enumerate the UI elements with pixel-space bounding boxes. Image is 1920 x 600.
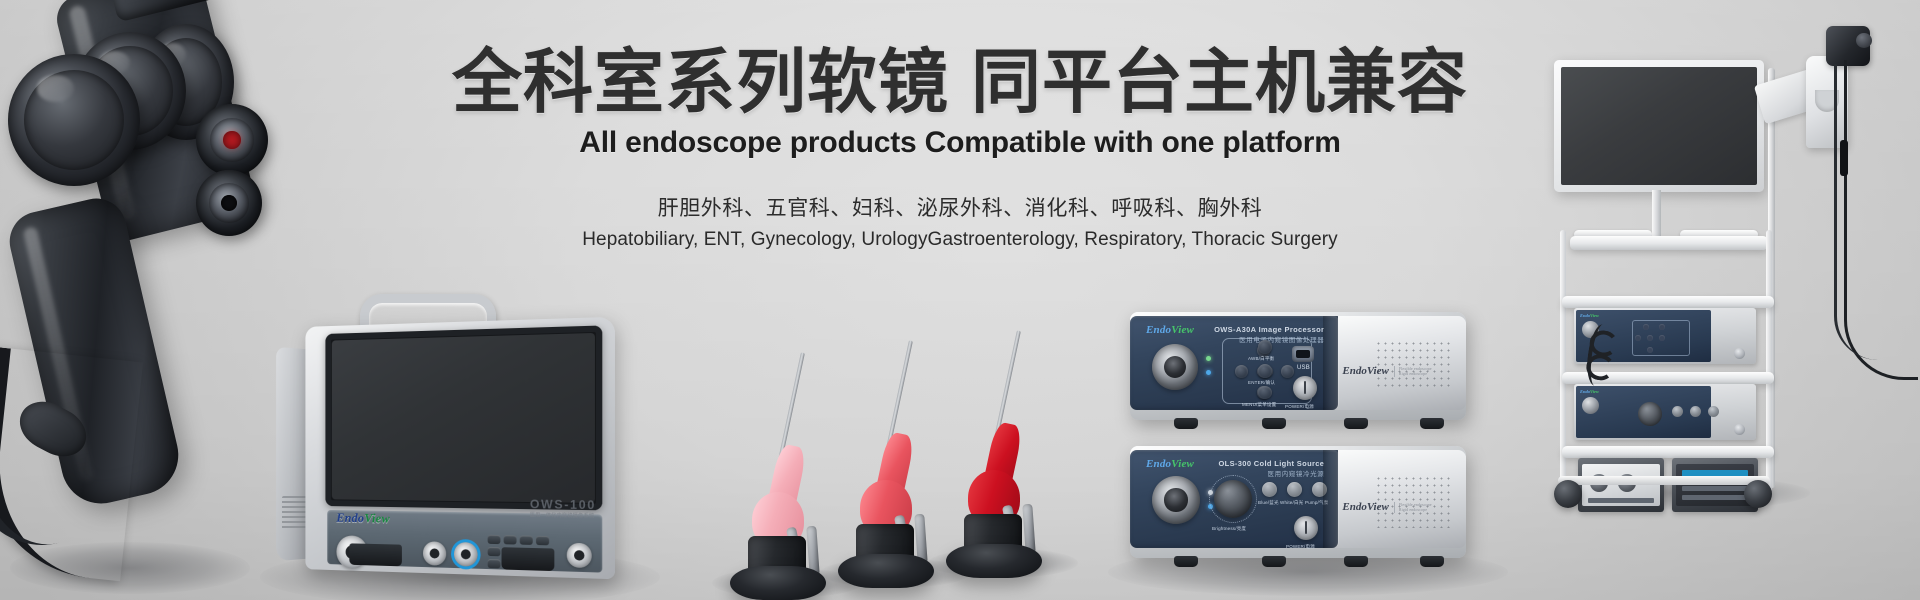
processor-power-label: POWER/电源 bbox=[1285, 404, 1314, 410]
processor-key-right[interactable] bbox=[1281, 365, 1294, 378]
processor-key-enter[interactable] bbox=[1258, 364, 1272, 378]
cart-lightsource-face: EndoView bbox=[1576, 386, 1711, 438]
workstation-foot bbox=[502, 547, 555, 571]
endoscope-product-banner: EndoView OWS-100医用一体化内窥镜摄像系统 bbox=[0, 0, 1920, 600]
workstation-ows100: EndoView OWS-100医用一体化内窥镜摄像系统 bbox=[288, 296, 620, 600]
processor-foot bbox=[1262, 418, 1286, 429]
workstation-foot bbox=[349, 543, 402, 566]
disposable-scope-pink bbox=[722, 360, 842, 590]
brand-prefix: Endo bbox=[1146, 324, 1171, 336]
brand-suffix: View bbox=[364, 511, 390, 526]
departments-chinese: 肝胆外科、五官科、妇科、泌尿外科、消化科、呼吸科、胸外科 bbox=[0, 192, 1920, 222]
departments-english: Hepatobiliary, ENT, Gynecology, UrologyG… bbox=[0, 229, 1920, 251]
processor-power-button[interactable] bbox=[1293, 376, 1317, 400]
cart-aux-right-panel bbox=[1676, 464, 1754, 506]
cart-base-bar bbox=[1558, 476, 1770, 485]
brand-prefix: Endo bbox=[1580, 389, 1590, 394]
processor-key-enter-label: ENTER/确认 bbox=[1248, 380, 1275, 386]
brand-suffix: View bbox=[1367, 501, 1389, 513]
cart-processor-brand: EndoView bbox=[1580, 313, 1599, 318]
brand-prefix: Endo bbox=[1580, 313, 1590, 318]
processor-status-led-green bbox=[1206, 356, 1211, 361]
processor-status-led-blue bbox=[1206, 370, 1211, 375]
workstation-display-bezel bbox=[325, 325, 602, 510]
processor-key-menu-label: MENU/菜单设置 bbox=[1242, 402, 1276, 408]
lightsource-foot bbox=[1262, 556, 1286, 567]
banner-subheadline: All endoscope products Compatible with o… bbox=[0, 126, 1920, 160]
keypad-key[interactable] bbox=[488, 559, 501, 568]
workstation-power-dial[interactable] bbox=[567, 543, 592, 568]
lightsource-power-label: POWER/电源 bbox=[1286, 544, 1315, 550]
processor-model-text: OWS-A30A Image Processor bbox=[1214, 325, 1324, 336]
lightsource-button-pump-label: Pump/气泵 bbox=[1305, 500, 1328, 506]
keypad-key[interactable] bbox=[504, 535, 517, 544]
processor-side-brand: EndoViewFlexible endoscopeRigid endoscop… bbox=[1342, 365, 1431, 377]
processor-foot bbox=[1174, 418, 1198, 429]
lightsource-button-pump[interactable] bbox=[1312, 482, 1327, 497]
brand-suffix: View bbox=[1171, 324, 1194, 336]
lightsource-scope-connector[interactable] bbox=[1152, 476, 1200, 524]
cart-shelf-3 bbox=[1562, 446, 1774, 458]
keypad-key[interactable] bbox=[488, 535, 501, 544]
lightsource-side-brand: EndoViewFlexible endoscopeRigid endoscop… bbox=[1342, 501, 1431, 513]
cart-lightsource-power-button[interactable] bbox=[1734, 424, 1745, 435]
lightsource-side-panel: EndoViewFlexible endoscopeRigid endoscop… bbox=[1332, 450, 1466, 548]
workstation-connector-1[interactable] bbox=[423, 541, 446, 566]
headline-segment-1: 全科室系列软镜 bbox=[452, 43, 949, 121]
keypad-key[interactable] bbox=[488, 547, 501, 556]
lightsource-brightness-label: Brightness/亮度 bbox=[1212, 526, 1246, 532]
lightsource-brand-logo: EndoView bbox=[1146, 458, 1194, 470]
cart-lightsource-brand: EndoView bbox=[1580, 389, 1599, 394]
cart-aux-device-left bbox=[1578, 458, 1664, 512]
cart-processor-power-button[interactable] bbox=[1734, 348, 1745, 359]
processor-side-panel: EndoViewFlexible endoscopeRigid endoscop… bbox=[1332, 316, 1466, 410]
cart-lightsource-scope-port[interactable] bbox=[1582, 397, 1599, 414]
cart-shelf-1 bbox=[1562, 296, 1774, 308]
processor-key-menu[interactable] bbox=[1258, 386, 1272, 399]
workstation-display-screen[interactable] bbox=[332, 333, 595, 503]
brand-suffix: View bbox=[1590, 313, 1599, 318]
disposable-scope-coral bbox=[830, 348, 950, 578]
brand-suffix: View bbox=[1171, 458, 1194, 470]
workstation-model-label: OWS-100医用一体化内窥镜摄像系统 bbox=[530, 497, 596, 520]
lightsource-button-blue-label: Blue/蓝光 bbox=[1258, 500, 1279, 506]
workstation-connector-2-highlighted[interactable] bbox=[454, 542, 478, 567]
lightsource-button-white-label: White/白光 bbox=[1280, 500, 1303, 506]
headline-segment-2: 同平台主机兼容 bbox=[971, 43, 1468, 121]
model-text: OWS-100 bbox=[530, 497, 596, 512]
lightsource-model-text: OLS-300 Cold Light Source bbox=[1218, 459, 1324, 470]
lightsource-button-white[interactable] bbox=[1287, 482, 1302, 497]
scope-stand-base bbox=[730, 566, 826, 600]
brand-suffix: View bbox=[1590, 389, 1599, 394]
cart-caster-right bbox=[1744, 480, 1772, 508]
cart-aux-strip bbox=[1588, 498, 1654, 503]
lightsource-foot bbox=[1344, 556, 1368, 567]
processor-side-tagline: Flexible endoscopeRigid endoscope bbox=[1394, 366, 1432, 376]
workstation-brand-logo: EndoView bbox=[336, 510, 389, 527]
cart-aux-strip bbox=[1682, 486, 1748, 491]
scope-stand-base bbox=[946, 544, 1042, 578]
keypad-key[interactable] bbox=[536, 536, 549, 546]
lightsource-foot bbox=[1420, 556, 1444, 567]
workstation-vent-grille bbox=[282, 496, 308, 530]
disposable-scope-red bbox=[938, 338, 1058, 568]
cart-lightsource-buttons[interactable] bbox=[1672, 406, 1724, 420]
banner-headline: 全科室系列软镜同平台主机兼容 bbox=[0, 46, 1920, 120]
banner-text-block: 全科室系列软镜同平台主机兼容 All endoscope products Co… bbox=[0, 46, 1920, 251]
image-processor-unit: EndoViewFlexible endoscopeRigid endoscop… bbox=[1130, 312, 1466, 420]
keypad-key[interactable] bbox=[520, 535, 533, 544]
scope-stand-base bbox=[838, 554, 934, 588]
brand-prefix: Endo bbox=[1146, 458, 1171, 470]
processor-scope-connector[interactable] bbox=[1152, 344, 1198, 390]
processor-foot bbox=[1344, 418, 1368, 429]
brand-prefix: Endo bbox=[336, 510, 364, 525]
cart-aux-device-right bbox=[1672, 458, 1758, 512]
lightsource-brightness-knob[interactable] bbox=[1214, 480, 1252, 518]
lightsource-foot bbox=[1174, 556, 1198, 567]
cart-lightsource-unit: EndoView bbox=[1574, 384, 1756, 440]
processor-key-awb-label: AWB/白平衡 bbox=[1248, 356, 1274, 362]
lightsource-button-blue[interactable] bbox=[1262, 482, 1277, 497]
lightsource-power-button[interactable] bbox=[1294, 516, 1318, 540]
cart-aux-strip bbox=[1682, 495, 1748, 500]
processor-brand-logo: EndoView bbox=[1146, 324, 1194, 336]
processor-key-left[interactable] bbox=[1235, 365, 1248, 378]
brand-prefix: Endo bbox=[1342, 365, 1366, 377]
brand-prefix: Endo bbox=[1342, 501, 1366, 513]
cold-light-source-unit: EndoViewFlexible endoscopeRigid endoscop… bbox=[1130, 446, 1466, 558]
cart-processor-keypad[interactable] bbox=[1632, 320, 1690, 356]
cart-aux-left-panel bbox=[1582, 464, 1660, 506]
brand-suffix: View bbox=[1367, 365, 1389, 377]
workstation-chassis: EndoView OWS-100医用一体化内窥镜摄像系统 bbox=[305, 317, 615, 580]
processor-foot bbox=[1420, 418, 1444, 429]
processor-usb-label: USB bbox=[1297, 365, 1310, 371]
processor-key-awb[interactable] bbox=[1258, 340, 1272, 354]
cart-caster-left bbox=[1554, 480, 1582, 508]
lightsource-side-tagline: Flexible endoscopeRigid endoscope bbox=[1394, 502, 1432, 512]
processor-usb-port[interactable] bbox=[1292, 346, 1314, 362]
cart-lightsource-brightness-knob[interactable] bbox=[1638, 402, 1662, 426]
model-subtitle: 医用一体化内窥镜摄像系统 bbox=[530, 511, 596, 519]
